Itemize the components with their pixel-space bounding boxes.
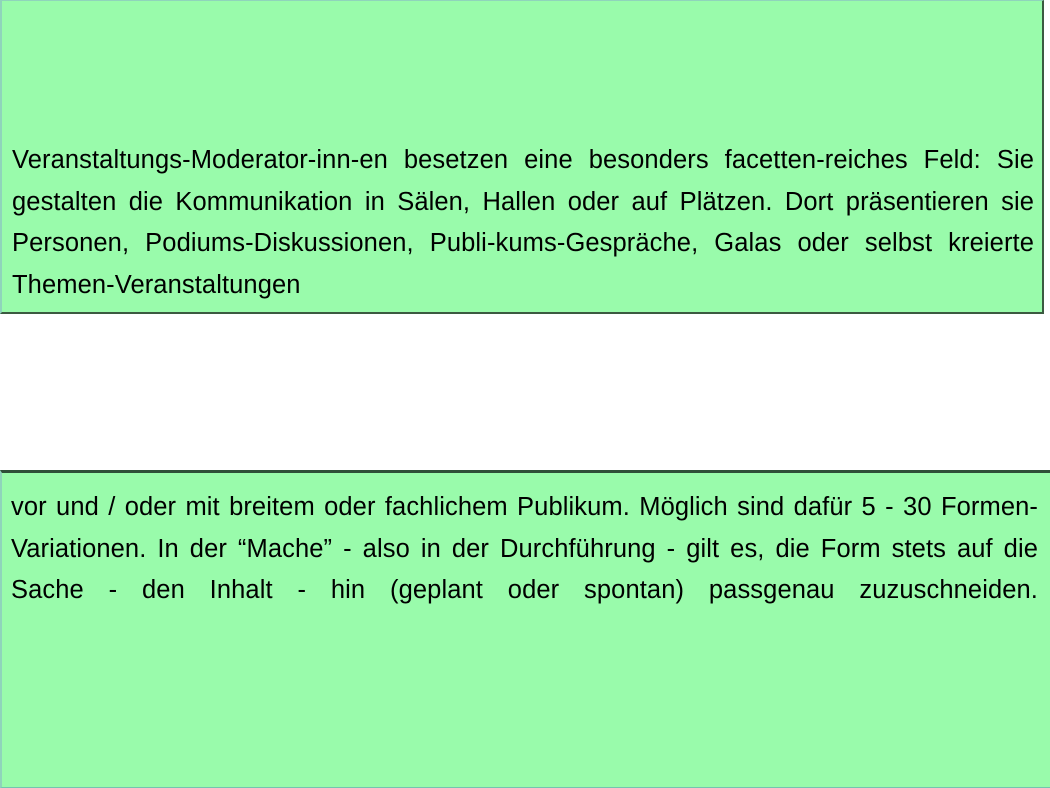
title-band: 5 Veranstaltungs- Moderation xyxy=(0,314,1050,470)
slide: Veranstaltungs-Moderator-inn-en besetzen… xyxy=(0,0,1050,788)
continuation-paragraph: vor und / oder mit breitem oder fachlich… xyxy=(11,487,1038,653)
intro-text-panel: Veranstaltungs-Moderator-inn-en besetzen… xyxy=(0,0,1044,314)
continuation-text-panel: vor und / oder mit breitem oder fachlich… xyxy=(0,470,1050,788)
